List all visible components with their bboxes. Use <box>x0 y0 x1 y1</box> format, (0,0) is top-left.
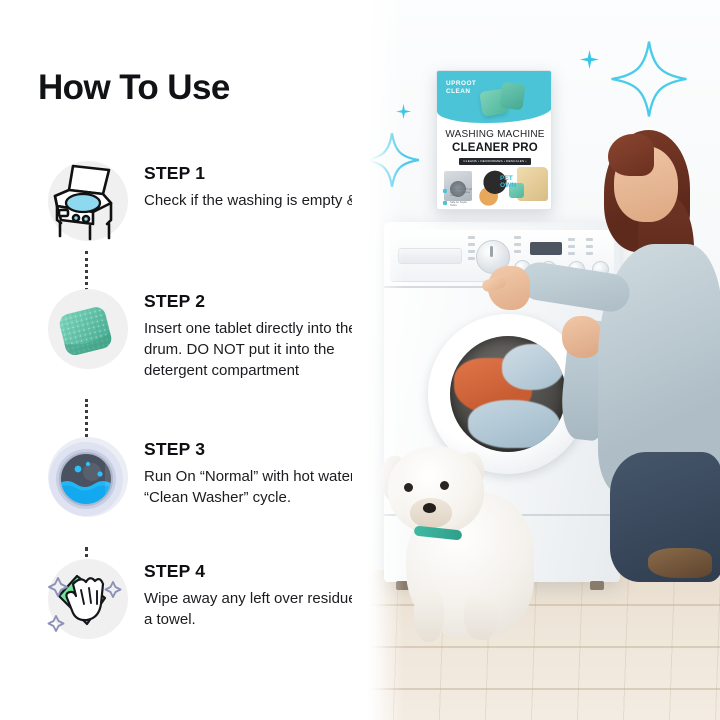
dog-eye-right <box>440 481 449 490</box>
washer-display <box>530 242 562 255</box>
product-package-box: UPROOT CLEAN WASHING MACHINE CLEANER PRO… <box>436 70 552 210</box>
sparkle-tiny-solid-icon <box>396 104 411 119</box>
pet-text-2: OWN <box>500 183 516 190</box>
step-item-2: STEP 2 Insert one tablet directly into t… <box>38 283 398 431</box>
wood-floor <box>352 570 720 720</box>
product-title-line-1: WASHING MACHINE <box>437 129 552 140</box>
brand-line-1: UPROOT <box>446 80 476 88</box>
step-item-4: STEP 4 Wipe away any left over residue w… <box>38 553 398 663</box>
sparkle-small-solid-icon <box>580 50 599 69</box>
sparkle-large-outline-icon <box>610 40 688 118</box>
step-item-1: STEP 1 Check if the washing is empty & c… <box>38 155 398 283</box>
step-4-icon-slot <box>38 553 134 649</box>
box-note-2: Safe for Septic Tanks <box>450 201 474 207</box>
product-photo-panel: UPROOT CLEAN WASHING MACHINE CLEANER PRO… <box>352 0 720 720</box>
step-2-icon-slot <box>38 283 134 379</box>
brand-line-2: CLEAN <box>446 88 476 96</box>
washer-drum-window <box>450 336 566 452</box>
detergent-drawer[interactable] <box>398 248 462 264</box>
person-shoe <box>648 548 712 578</box>
washer-foot-right <box>590 581 604 590</box>
person-hair-front <box>608 134 654 176</box>
laundry-item-blue-2 <box>468 400 560 448</box>
dog-eye-left <box>404 483 413 492</box>
product-title-line-2: CLEANER PRO <box>437 142 552 154</box>
laundry-item-blue-1 <box>502 344 564 390</box>
hand-wiping-cloth-icon <box>43 558 129 644</box>
box-pet-owner-text: PET OWN <box>500 176 516 190</box>
dog-nose <box>423 503 436 513</box>
cleaning-tablet-icon <box>43 288 129 374</box>
dog-front-leg <box>414 588 444 642</box>
top-load-washer-open-lid-icon <box>43 160 129 246</box>
steps-list: STEP 1 Check if the washing is empty & c… <box>38 155 398 663</box>
box-note-1: Compatible with all washing machine mode… <box>450 188 474 197</box>
product-tablet-back <box>500 82 526 111</box>
person-hand-lower <box>562 316 602 358</box>
step-3-icon-slot <box>38 431 134 527</box>
washer-drum-water-icon <box>43 436 129 522</box>
step-1-icon-slot <box>38 155 134 251</box>
dog-hind-leg <box>464 592 498 640</box>
brand-logo: UPROOT CLEAN <box>446 80 476 96</box>
panel-edge-fade <box>352 0 386 720</box>
step-item-3: STEP 3 Run On “Normal” with hot water or… <box>38 431 398 553</box>
product-feature-bar: CLEANS • DEODORIZES • DESCALES • DISSOLV… <box>459 158 531 165</box>
infographic-root: How To Use <box>0 0 720 720</box>
page-title: How To Use <box>38 68 230 108</box>
instructions-panel: How To Use <box>0 0 400 720</box>
